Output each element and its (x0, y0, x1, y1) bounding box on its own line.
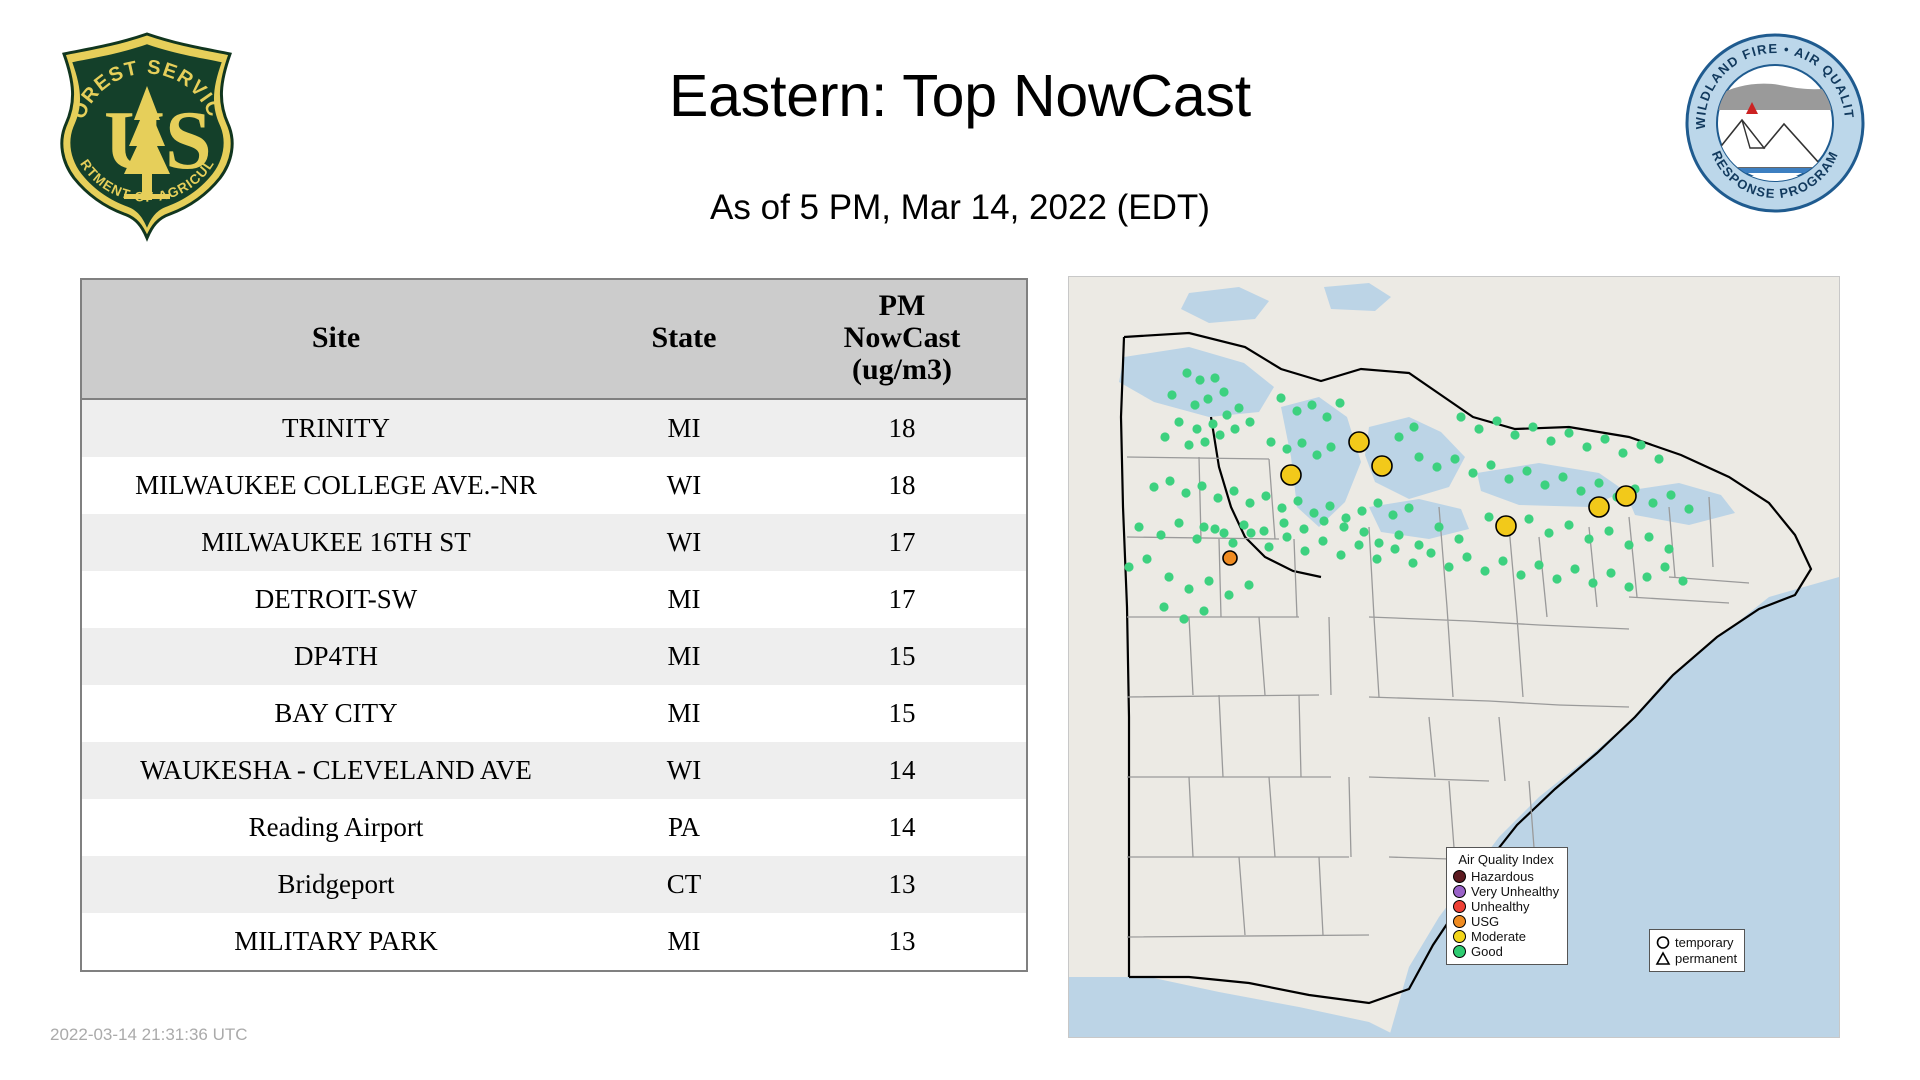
monitor-marker-good[interactable] (1204, 576, 1213, 585)
monitor-marker-good[interactable] (1160, 432, 1169, 441)
monitor-marker-good[interactable] (1224, 590, 1233, 599)
monitor-marker-good[interactable] (1167, 390, 1176, 399)
aqi-legend-label: Very Unhealthy (1471, 884, 1559, 899)
monitor-marker-good[interactable] (1588, 578, 1597, 587)
monitor-marker-good[interactable] (1636, 440, 1645, 449)
monitor-marker-good[interactable] (1335, 398, 1344, 407)
monitor-marker-moderate[interactable] (1589, 497, 1609, 517)
monitor-marker-good[interactable] (1450, 454, 1459, 463)
monitor-marker-good[interactable] (1203, 394, 1212, 403)
column-header-pm-line1: PM (782, 290, 1022, 322)
monitor-marker-moderate[interactable] (1496, 516, 1516, 536)
monitor-marker-good[interactable] (1684, 504, 1693, 513)
monitor-marker-good[interactable] (1604, 526, 1613, 535)
monitor-marker-good[interactable] (1322, 412, 1331, 421)
monitor-marker-good[interactable] (1664, 544, 1673, 553)
aqi-legend: Air Quality Index HazardousVery Unhealth… (1446, 847, 1568, 965)
state-cell: MI (590, 913, 778, 971)
monitor-marker-good[interactable] (1486, 460, 1495, 469)
aqi-legend-label: Hazardous (1471, 869, 1534, 884)
aqi-legend-item: Good (1453, 944, 1559, 959)
monitor-marker-good[interactable] (1246, 528, 1255, 537)
aqi-swatch-icon (1453, 915, 1466, 928)
monitor-marker-good[interactable] (1200, 437, 1209, 446)
monitor-marker-good[interactable] (1307, 400, 1316, 409)
circle-outline-icon (1655, 935, 1671, 950)
state-cell: PA (590, 799, 778, 856)
site-cell: MILITARY PARK (81, 913, 590, 971)
monitor-marker-good[interactable] (1239, 520, 1248, 529)
monitor-marker-good[interactable] (1654, 454, 1663, 463)
monitor-marker-good[interactable] (1182, 368, 1191, 377)
monitor-marker-good[interactable] (1293, 496, 1302, 505)
aqi-legend-label: Moderate (1471, 929, 1526, 944)
pm-nowcast-cell: 18 (778, 399, 1027, 457)
state-cell: CT (590, 856, 778, 913)
column-header-state: State (590, 279, 778, 399)
pm-nowcast-cell: 14 (778, 742, 1027, 799)
monitor-marker-good[interactable] (1552, 574, 1561, 583)
monitor-marker-good[interactable] (1404, 503, 1413, 512)
monitor-marker-good[interactable] (1678, 576, 1687, 585)
site-type-permanent-label: permanent (1675, 951, 1737, 966)
monitor-marker-good[interactable] (1624, 582, 1633, 591)
monitor-marker-good[interactable] (1199, 606, 1208, 615)
monitor-marker-good[interactable] (1339, 522, 1348, 531)
monitor-marker-good[interactable] (1540, 480, 1549, 489)
state-cell: MI (590, 571, 778, 628)
monitor-marker-good[interactable] (1184, 584, 1193, 593)
monitor-marker-good[interactable] (1341, 513, 1350, 522)
monitor-marker-good[interactable] (1492, 416, 1501, 425)
monitor-marker-good[interactable] (1245, 498, 1254, 507)
pm-nowcast-cell: 17 (778, 514, 1027, 571)
monitor-marker-good[interactable] (1516, 570, 1525, 579)
monitor-marker-good[interactable] (1276, 393, 1285, 402)
aqi-legend-item: USG (1453, 914, 1559, 929)
monitor-marker-good[interactable] (1149, 482, 1158, 491)
site-cell: Bridgeport (81, 856, 590, 913)
monitor-marker-good[interactable] (1357, 506, 1366, 515)
monitor-marker-good[interactable] (1326, 442, 1335, 451)
wfaqrp-logo: WILDLAND FIRE • AIR QUALITY RESPONSE PRO… (1680, 28, 1870, 218)
monitor-marker-good[interactable] (1594, 478, 1603, 487)
site-type-permanent-row: permanent (1655, 950, 1737, 966)
site-cell: Reading Airport (81, 799, 590, 856)
air-quality-map[interactable]: Air Quality Index HazardousVery Unhealth… (1068, 276, 1840, 1038)
monitor-marker-good[interactable] (1230, 424, 1239, 433)
column-header-pm-nowcast: PM NowCast (ug/m3) (778, 279, 1027, 399)
aqi-legend-label: Unhealthy (1471, 899, 1530, 914)
monitor-marker-good[interactable] (1454, 534, 1463, 543)
monitor-marker-good[interactable] (1480, 566, 1489, 575)
monitor-marker-good[interactable] (1474, 424, 1483, 433)
aqi-swatch-icon (1453, 870, 1466, 883)
monitor-marker-good[interactable] (1570, 564, 1579, 573)
site-cell: BAY CITY (81, 685, 590, 742)
monitor-marker-good[interactable] (1234, 403, 1243, 412)
monitor-marker-moderate[interactable] (1616, 486, 1636, 506)
state-cell: WI (590, 514, 778, 571)
monitor-marker-good[interactable] (1181, 488, 1190, 497)
monitor-marker-good[interactable] (1174, 417, 1183, 426)
monitor-marker-good[interactable] (1558, 472, 1567, 481)
monitor-marker-good[interactable] (1228, 538, 1237, 547)
monitor-marker-good[interactable] (1277, 503, 1286, 512)
monitor-marker-good[interactable] (1134, 522, 1143, 531)
monitor-marker-good[interactable] (1297, 438, 1306, 447)
monitor-marker-good[interactable] (1199, 522, 1208, 531)
monitor-marker-good[interactable] (1584, 534, 1593, 543)
monitor-marker-good[interactable] (1390, 544, 1399, 553)
monitor-marker-good[interactable] (1299, 524, 1308, 533)
monitor-marker-good[interactable] (1359, 527, 1368, 536)
monitor-marker-good[interactable] (1192, 534, 1201, 543)
site-cell: MILWAUKEE COLLEGE AVE.-NR (81, 457, 590, 514)
state-cell: MI (590, 399, 778, 457)
monitor-marker-good[interactable] (1292, 406, 1301, 415)
monitor-marker-good[interactable] (1462, 552, 1471, 561)
page-subtitle: As of 5 PM, Mar 14, 2022 (EDT) (0, 188, 1920, 228)
monitor-marker-good[interactable] (1576, 486, 1585, 495)
aqi-legend-item: Moderate (1453, 929, 1559, 944)
table-body: TRINITYMI18MILWAUKEE COLLEGE AVE.-NRWI18… (81, 399, 1027, 971)
monitor-marker-good[interactable] (1229, 486, 1238, 495)
column-header-pm-line2: NowCast (782, 322, 1022, 354)
state-cell: MI (590, 685, 778, 742)
monitor-marker-good[interactable] (1414, 452, 1423, 461)
site-cell: DP4TH (81, 628, 590, 685)
monitor-marker-good[interactable] (1524, 514, 1533, 523)
monitor-marker-good[interactable] (1259, 526, 1268, 535)
column-header-pm-line3: (ug/m3) (782, 354, 1022, 386)
monitor-marker-good[interactable] (1300, 546, 1309, 555)
table-row: Reading AirportPA14 (81, 799, 1027, 856)
monitor-marker-good[interactable] (1222, 410, 1231, 419)
aqi-legend-label: USG (1471, 914, 1499, 929)
monitor-marker-good[interactable] (1190, 400, 1199, 409)
monitor-marker-good[interactable] (1282, 532, 1291, 541)
monitor-marker-good[interactable] (1318, 536, 1327, 545)
table-row: TRINITYMI18 (81, 399, 1027, 457)
monitor-marker-good[interactable] (1319, 516, 1328, 525)
page-title: Eastern: Top NowCast (0, 62, 1920, 130)
monitor-marker-good[interactable] (1546, 436, 1555, 445)
monitor-marker-good[interactable] (1282, 444, 1291, 453)
monitor-marker-good[interactable] (1374, 538, 1383, 547)
monitor-marker-good[interactable] (1522, 466, 1531, 475)
monitor-marker-good[interactable] (1266, 437, 1275, 446)
monitor-marker-good[interactable] (1606, 568, 1615, 577)
monitor-marker-good[interactable] (1192, 424, 1201, 433)
monitor-marker-good[interactable] (1544, 528, 1553, 537)
monitor-marker-good[interactable] (1624, 540, 1633, 549)
aqi-legend-item: Hazardous (1453, 869, 1559, 884)
monitor-marker-moderate[interactable] (1349, 432, 1369, 452)
triangle-outline-icon (1655, 951, 1671, 966)
aqi-legend-label: Good (1471, 944, 1503, 959)
pm-nowcast-cell: 18 (778, 457, 1027, 514)
monitor-marker-good[interactable] (1468, 468, 1477, 477)
monitor-marker-good[interactable] (1264, 542, 1273, 551)
monitor-marker-good[interactable] (1564, 428, 1573, 437)
monitor-marker-good[interactable] (1582, 442, 1591, 451)
monitor-marker-good[interactable] (1388, 510, 1397, 519)
table-header-row: Site State PM NowCast (ug/m3) (81, 279, 1027, 399)
monitor-marker-good[interactable] (1174, 518, 1183, 527)
pm-nowcast-cell: 15 (778, 628, 1027, 685)
column-header-site: Site (81, 279, 590, 399)
monitor-marker-good[interactable] (1336, 550, 1345, 559)
monitor-marker-good[interactable] (1394, 530, 1403, 539)
site-cell: DETROIT-SW (81, 571, 590, 628)
aqi-swatch-icon (1453, 945, 1466, 958)
pm-nowcast-cell: 14 (778, 799, 1027, 856)
monitor-marker-usg[interactable] (1223, 551, 1237, 565)
monitor-marker-good[interactable] (1213, 493, 1222, 502)
pm-nowcast-cell: 17 (778, 571, 1027, 628)
monitor-marker-good[interactable] (1456, 412, 1465, 421)
monitor-marker-good[interactable] (1409, 422, 1418, 431)
nowcast-table: Site State PM NowCast (ug/m3) TRINITYMI1… (80, 278, 1028, 972)
pm-nowcast-cell: 13 (778, 913, 1027, 971)
monitor-marker-good[interactable] (1219, 387, 1228, 396)
monitor-marker-good[interactable] (1309, 508, 1318, 517)
monitor-marker-good[interactable] (1642, 572, 1651, 581)
monitor-marker-good[interactable] (1648, 498, 1657, 507)
monitor-marker-good[interactable] (1165, 476, 1174, 485)
monitor-marker-good[interactable] (1210, 524, 1219, 533)
monitor-marker-good[interactable] (1504, 474, 1513, 483)
monitor-marker-good[interactable] (1179, 614, 1188, 623)
monitor-marker-good[interactable] (1354, 540, 1363, 549)
monitor-marker-good[interactable] (1245, 417, 1254, 426)
monitor-marker-good[interactable] (1618, 448, 1627, 457)
monitor-marker-good[interactable] (1394, 432, 1403, 441)
monitor-marker-good[interactable] (1210, 373, 1219, 382)
monitor-marker-good[interactable] (1197, 481, 1206, 490)
aqi-legend-rows: HazardousVery UnhealthyUnhealthyUSGModer… (1453, 869, 1559, 959)
monitor-marker-good[interactable] (1432, 462, 1441, 471)
monitor-marker-good[interactable] (1142, 554, 1151, 563)
monitor-marker-good[interactable] (1644, 532, 1653, 541)
monitor-marker-good[interactable] (1434, 522, 1443, 531)
monitor-marker-good[interactable] (1528, 422, 1537, 431)
aqi-swatch-icon (1453, 930, 1466, 943)
monitor-marker-good[interactable] (1564, 520, 1573, 529)
monitor-marker-good[interactable] (1215, 430, 1224, 439)
monitor-marker-good[interactable] (1414, 540, 1423, 549)
pm-nowcast-cell: 13 (778, 856, 1027, 913)
site-cell: MILWAUKEE 16TH ST (81, 514, 590, 571)
monitor-marker-good[interactable] (1279, 518, 1288, 527)
table-row: MILITARY PARKMI13 (81, 913, 1027, 971)
monitor-marker-good[interactable] (1600, 434, 1609, 443)
state-cell: WI (590, 742, 778, 799)
monitor-marker-moderate[interactable] (1281, 465, 1301, 485)
aqi-legend-title: Air Quality Index (1453, 852, 1559, 867)
monitor-marker-good[interactable] (1219, 528, 1228, 537)
pm-nowcast-cell: 15 (778, 685, 1027, 742)
monitor-marker-good[interactable] (1660, 562, 1669, 571)
monitor-marker-good[interactable] (1498, 556, 1507, 565)
table-head: Site State PM NowCast (ug/m3) (81, 279, 1027, 399)
monitor-marker-good[interactable] (1312, 450, 1321, 459)
monitor-marker-good[interactable] (1510, 430, 1519, 439)
generated-timestamp: 2022-03-14 21:31:36 UTC (50, 1025, 248, 1045)
monitor-marker-good[interactable] (1261, 491, 1270, 500)
table-row: MILWAUKEE 16TH STWI17 (81, 514, 1027, 571)
aqi-swatch-icon (1453, 900, 1466, 913)
table-row: DETROIT-SWMI17 (81, 571, 1027, 628)
nowcast-table-container: Site State PM NowCast (ug/m3) TRINITYMI1… (80, 278, 1000, 972)
monitor-marker-good[interactable] (1164, 572, 1173, 581)
monitor-marker-good[interactable] (1373, 498, 1382, 507)
state-cell: MI (590, 628, 778, 685)
table-row: BAY CITYMI15 (81, 685, 1027, 742)
aqi-swatch-icon (1453, 885, 1466, 898)
aqi-legend-item: Very Unhealthy (1453, 884, 1559, 899)
aqi-legend-item: Unhealthy (1453, 899, 1559, 914)
table-row: BridgeportCT13 (81, 856, 1027, 913)
monitor-marker-good[interactable] (1408, 558, 1417, 567)
monitor-marker-good[interactable] (1195, 375, 1204, 384)
monitor-marker-good[interactable] (1666, 490, 1675, 499)
monitor-marker-good[interactable] (1444, 562, 1453, 571)
monitor-marker-good[interactable] (1426, 548, 1435, 557)
monitor-marker-good[interactable] (1534, 560, 1543, 569)
state-cell: WI (590, 457, 778, 514)
table-row: DP4THMI15 (81, 628, 1027, 685)
monitor-marker-good[interactable] (1244, 580, 1253, 589)
site-type-legend: temporary permanent (1649, 929, 1745, 972)
monitor-marker-good[interactable] (1159, 602, 1168, 611)
site-type-temporary-row: temporary (1655, 934, 1737, 950)
monitor-marker-good[interactable] (1325, 501, 1334, 510)
monitor-marker-good[interactable] (1208, 419, 1217, 428)
monitor-marker-good[interactable] (1184, 440, 1193, 449)
monitor-marker-moderate[interactable] (1372, 456, 1392, 476)
table-row: WAUKESHA - CLEVELAND AVEWI14 (81, 742, 1027, 799)
site-cell: TRINITY (81, 399, 590, 457)
monitor-marker-good[interactable] (1484, 512, 1493, 521)
site-type-temporary-label: temporary (1675, 935, 1734, 950)
monitor-marker-good[interactable] (1156, 530, 1165, 539)
site-cell: WAUKESHA - CLEVELAND AVE (81, 742, 590, 799)
monitor-marker-good[interactable] (1372, 554, 1381, 563)
monitor-marker-good[interactable] (1124, 562, 1133, 571)
table-row: MILWAUKEE COLLEGE AVE.-NRWI18 (81, 457, 1027, 514)
